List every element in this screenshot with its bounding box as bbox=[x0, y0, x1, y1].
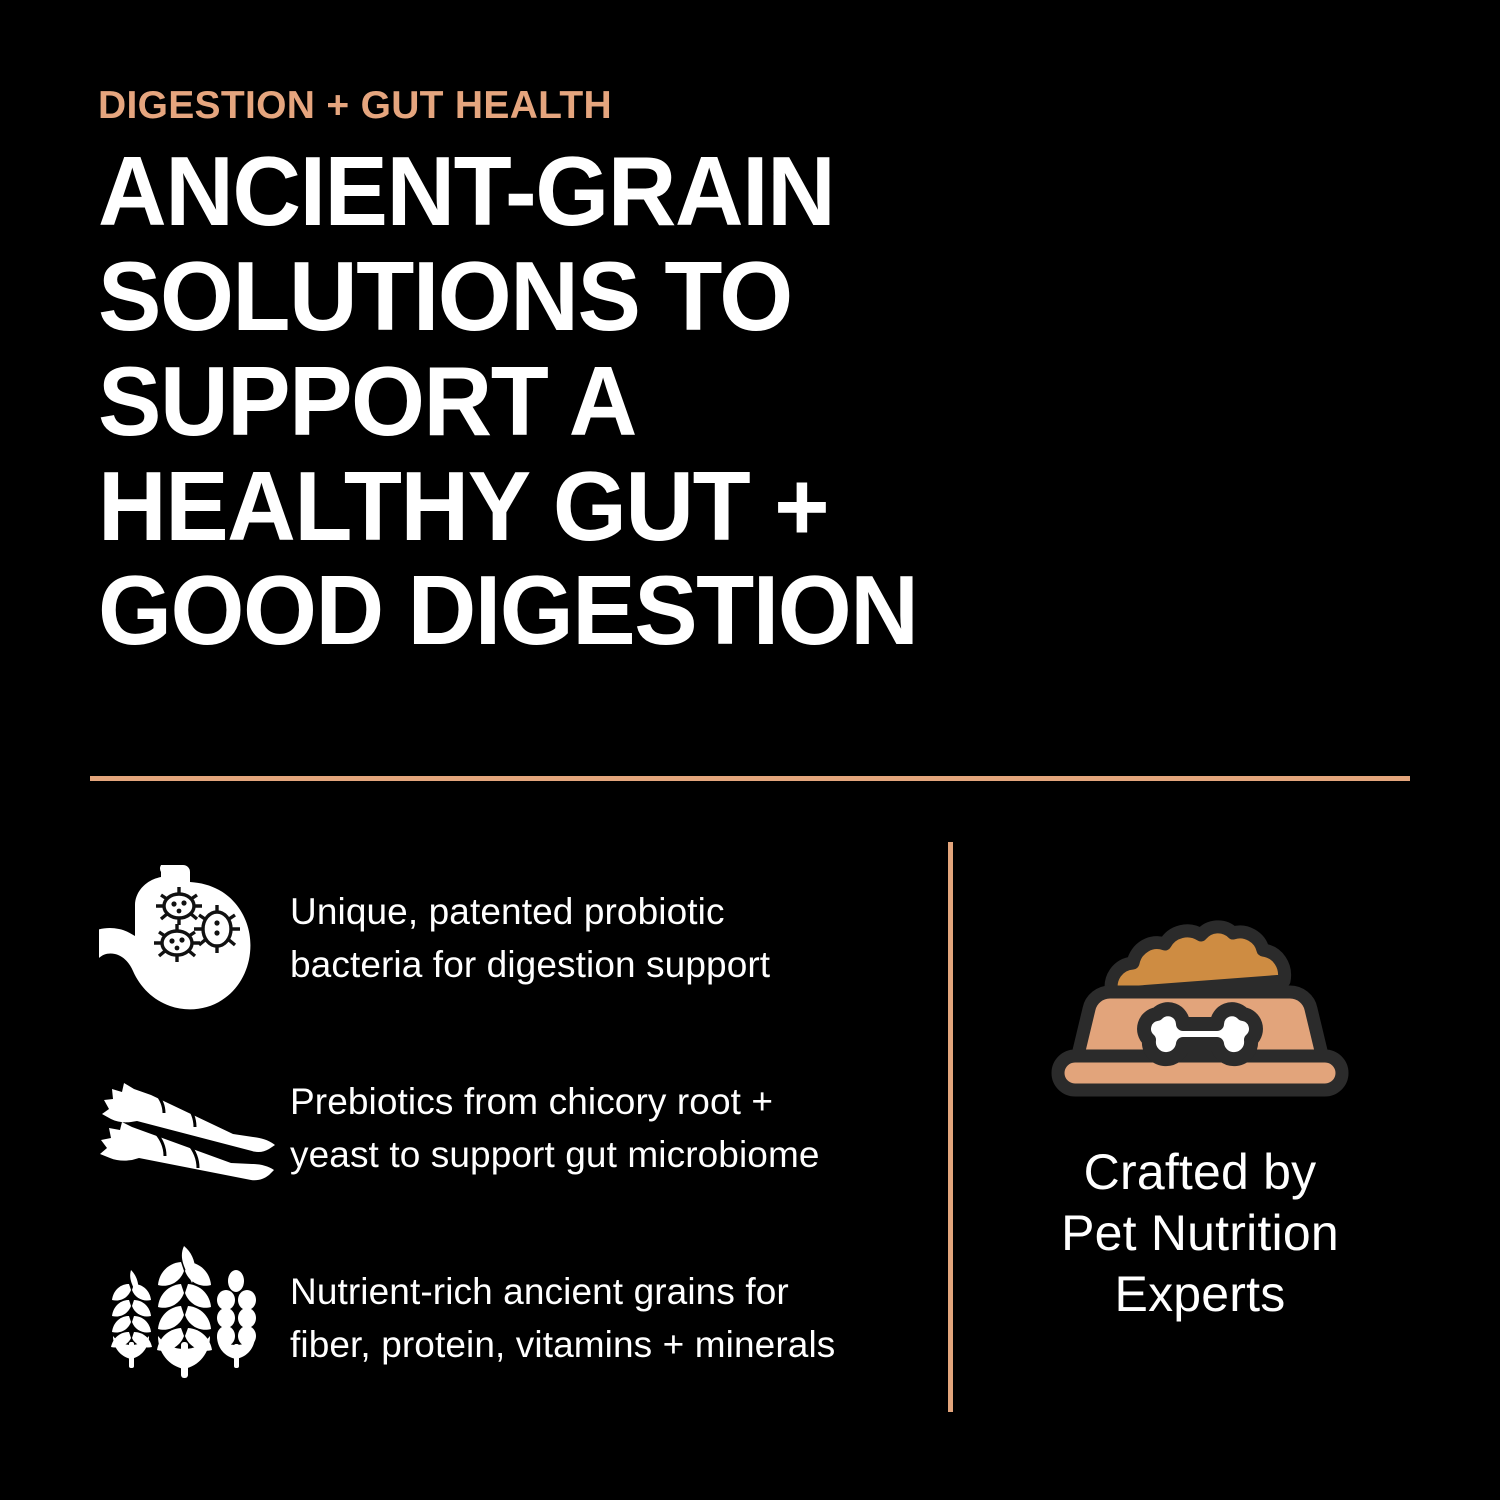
headline-line-3: SUPPORT A bbox=[98, 349, 1378, 454]
list-item: Unique, patented probiotic bacteria for … bbox=[90, 846, 920, 1032]
crafted-by-caption: Crafted by Pet Nutrition Experts bbox=[1061, 1142, 1339, 1325]
benefit-2-line-2: yeast to support gut microbiome bbox=[290, 1129, 820, 1182]
list-item-text: Nutrient-rich ancient grains for fiber, … bbox=[280, 1266, 835, 1371]
crafted-line-3: Experts bbox=[1061, 1264, 1339, 1325]
benefits-list: Unique, patented probiotic bacteria for … bbox=[90, 846, 920, 1416]
stomach-probiotic-icon bbox=[90, 852, 280, 1027]
chicory-root-carrots-icon bbox=[90, 1042, 280, 1217]
vertical-divider bbox=[948, 842, 953, 1412]
page-title: ANCIENT-GRAIN SOLUTIONS TO SUPPORT A HEA… bbox=[98, 139, 1418, 663]
headline-line-5: GOOD DIGESTION bbox=[98, 558, 1378, 663]
list-item-text: Unique, patented probiotic bacteria for … bbox=[280, 886, 770, 991]
benefit-2-line-1: Prebiotics from chicory root + bbox=[290, 1076, 820, 1129]
headline-line-2: SOLUTIONS TO bbox=[98, 244, 1378, 349]
benefit-3-line-2: fiber, protein, vitamins + minerals bbox=[290, 1319, 835, 1372]
benefit-1-line-2: bacteria for digestion support bbox=[290, 939, 770, 992]
crafted-line-1: Crafted by bbox=[1061, 1142, 1339, 1203]
header: DIGESTION + GUT HEALTH ANCIENT-GRAIN SOL… bbox=[98, 86, 1418, 663]
crafted-by-panel: Crafted by Pet Nutrition Experts bbox=[980, 880, 1420, 1325]
wheat-grains-icon bbox=[90, 1232, 280, 1407]
headline-line-4: HEALTHY GUT + bbox=[98, 454, 1378, 559]
eyebrow-label: DIGESTION + GUT HEALTH bbox=[98, 86, 1418, 125]
list-item-text: Prebiotics from chicory root + yeast to … bbox=[280, 1076, 820, 1181]
benefit-3-line-1: Nutrient-rich ancient grains for bbox=[290, 1266, 835, 1319]
dog-food-bowl-icon bbox=[1035, 880, 1365, 1110]
crafted-line-2: Pet Nutrition bbox=[1061, 1203, 1339, 1264]
list-item: Nutrient-rich ancient grains for fiber, … bbox=[90, 1226, 920, 1412]
benefit-1-line-1: Unique, patented probiotic bbox=[290, 886, 770, 939]
headline-line-1: ANCIENT-GRAIN bbox=[98, 139, 1378, 244]
infographic-panel: DIGESTION + GUT HEALTH ANCIENT-GRAIN SOL… bbox=[0, 0, 1500, 1500]
horizontal-divider bbox=[90, 776, 1410, 781]
list-item: Prebiotics from chicory root + yeast to … bbox=[90, 1036, 920, 1222]
